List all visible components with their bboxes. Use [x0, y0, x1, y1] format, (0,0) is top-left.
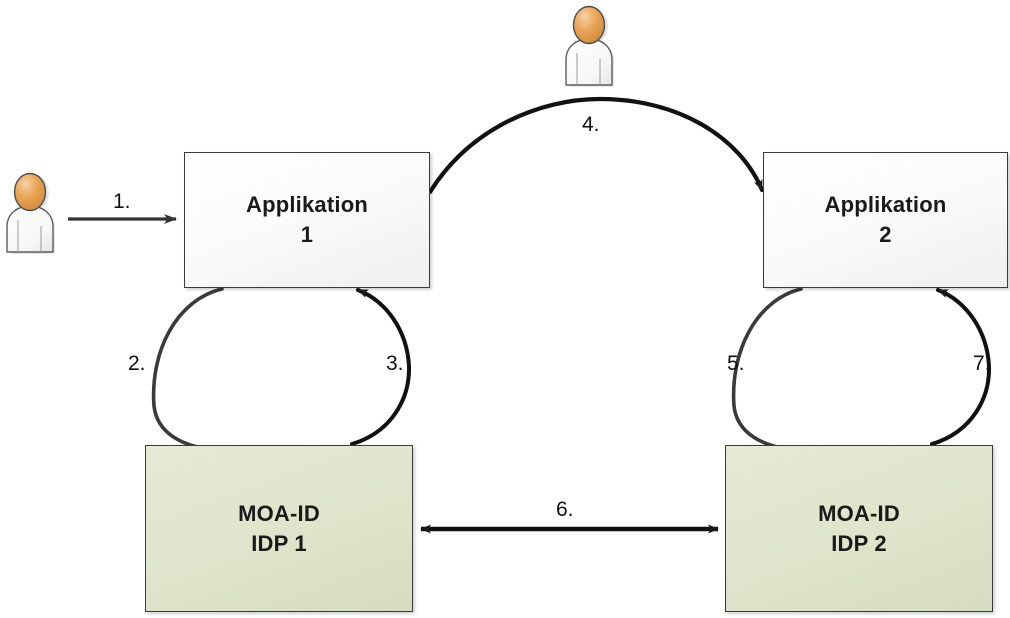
step-label-4: 4. [582, 113, 600, 137]
application-2-box[interactable]: Applikation 2 [763, 152, 1008, 288]
actor-body [566, 39, 612, 85]
connector-step-2 [154, 289, 224, 451]
application-1-label-line2: 1 [301, 220, 313, 250]
user-actor-top [562, 5, 620, 93]
moa-id-idp-1-box[interactable]: MOA-ID IDP 1 [145, 445, 413, 612]
actor-head [15, 174, 46, 211]
step-label-3: 3. [386, 352, 404, 376]
actor-body [7, 206, 53, 252]
diagram-canvas: Applikation 1 Applikation 2 MOA-ID IDP 1… [0, 0, 1010, 618]
application-2-label-line1: Applikation [825, 190, 947, 220]
application-2-label-line2: 2 [879, 220, 891, 250]
step-label-7: 7. [973, 352, 991, 376]
actor-head [574, 7, 605, 44]
step-label-2: 2. [128, 352, 146, 376]
moa-id-idp-2-box[interactable]: MOA-ID IDP 2 [725, 445, 993, 612]
moa-id-idp-1-label-line1: MOA-ID [238, 499, 320, 529]
step-label-5: 5. [727, 352, 745, 376]
step-label-1: 1. [113, 190, 131, 214]
moa-id-idp-2-label-line1: MOA-ID [818, 499, 900, 529]
moa-id-idp-2-label-line2: IDP 2 [831, 529, 887, 559]
application-1-box[interactable]: Applikation 1 [184, 152, 430, 288]
step-label-6: 6. [556, 498, 574, 522]
application-1-label-line1: Applikation [246, 190, 368, 220]
moa-id-idp-1-label-line2: IDP 1 [251, 529, 307, 559]
user-actor-left [3, 172, 61, 260]
